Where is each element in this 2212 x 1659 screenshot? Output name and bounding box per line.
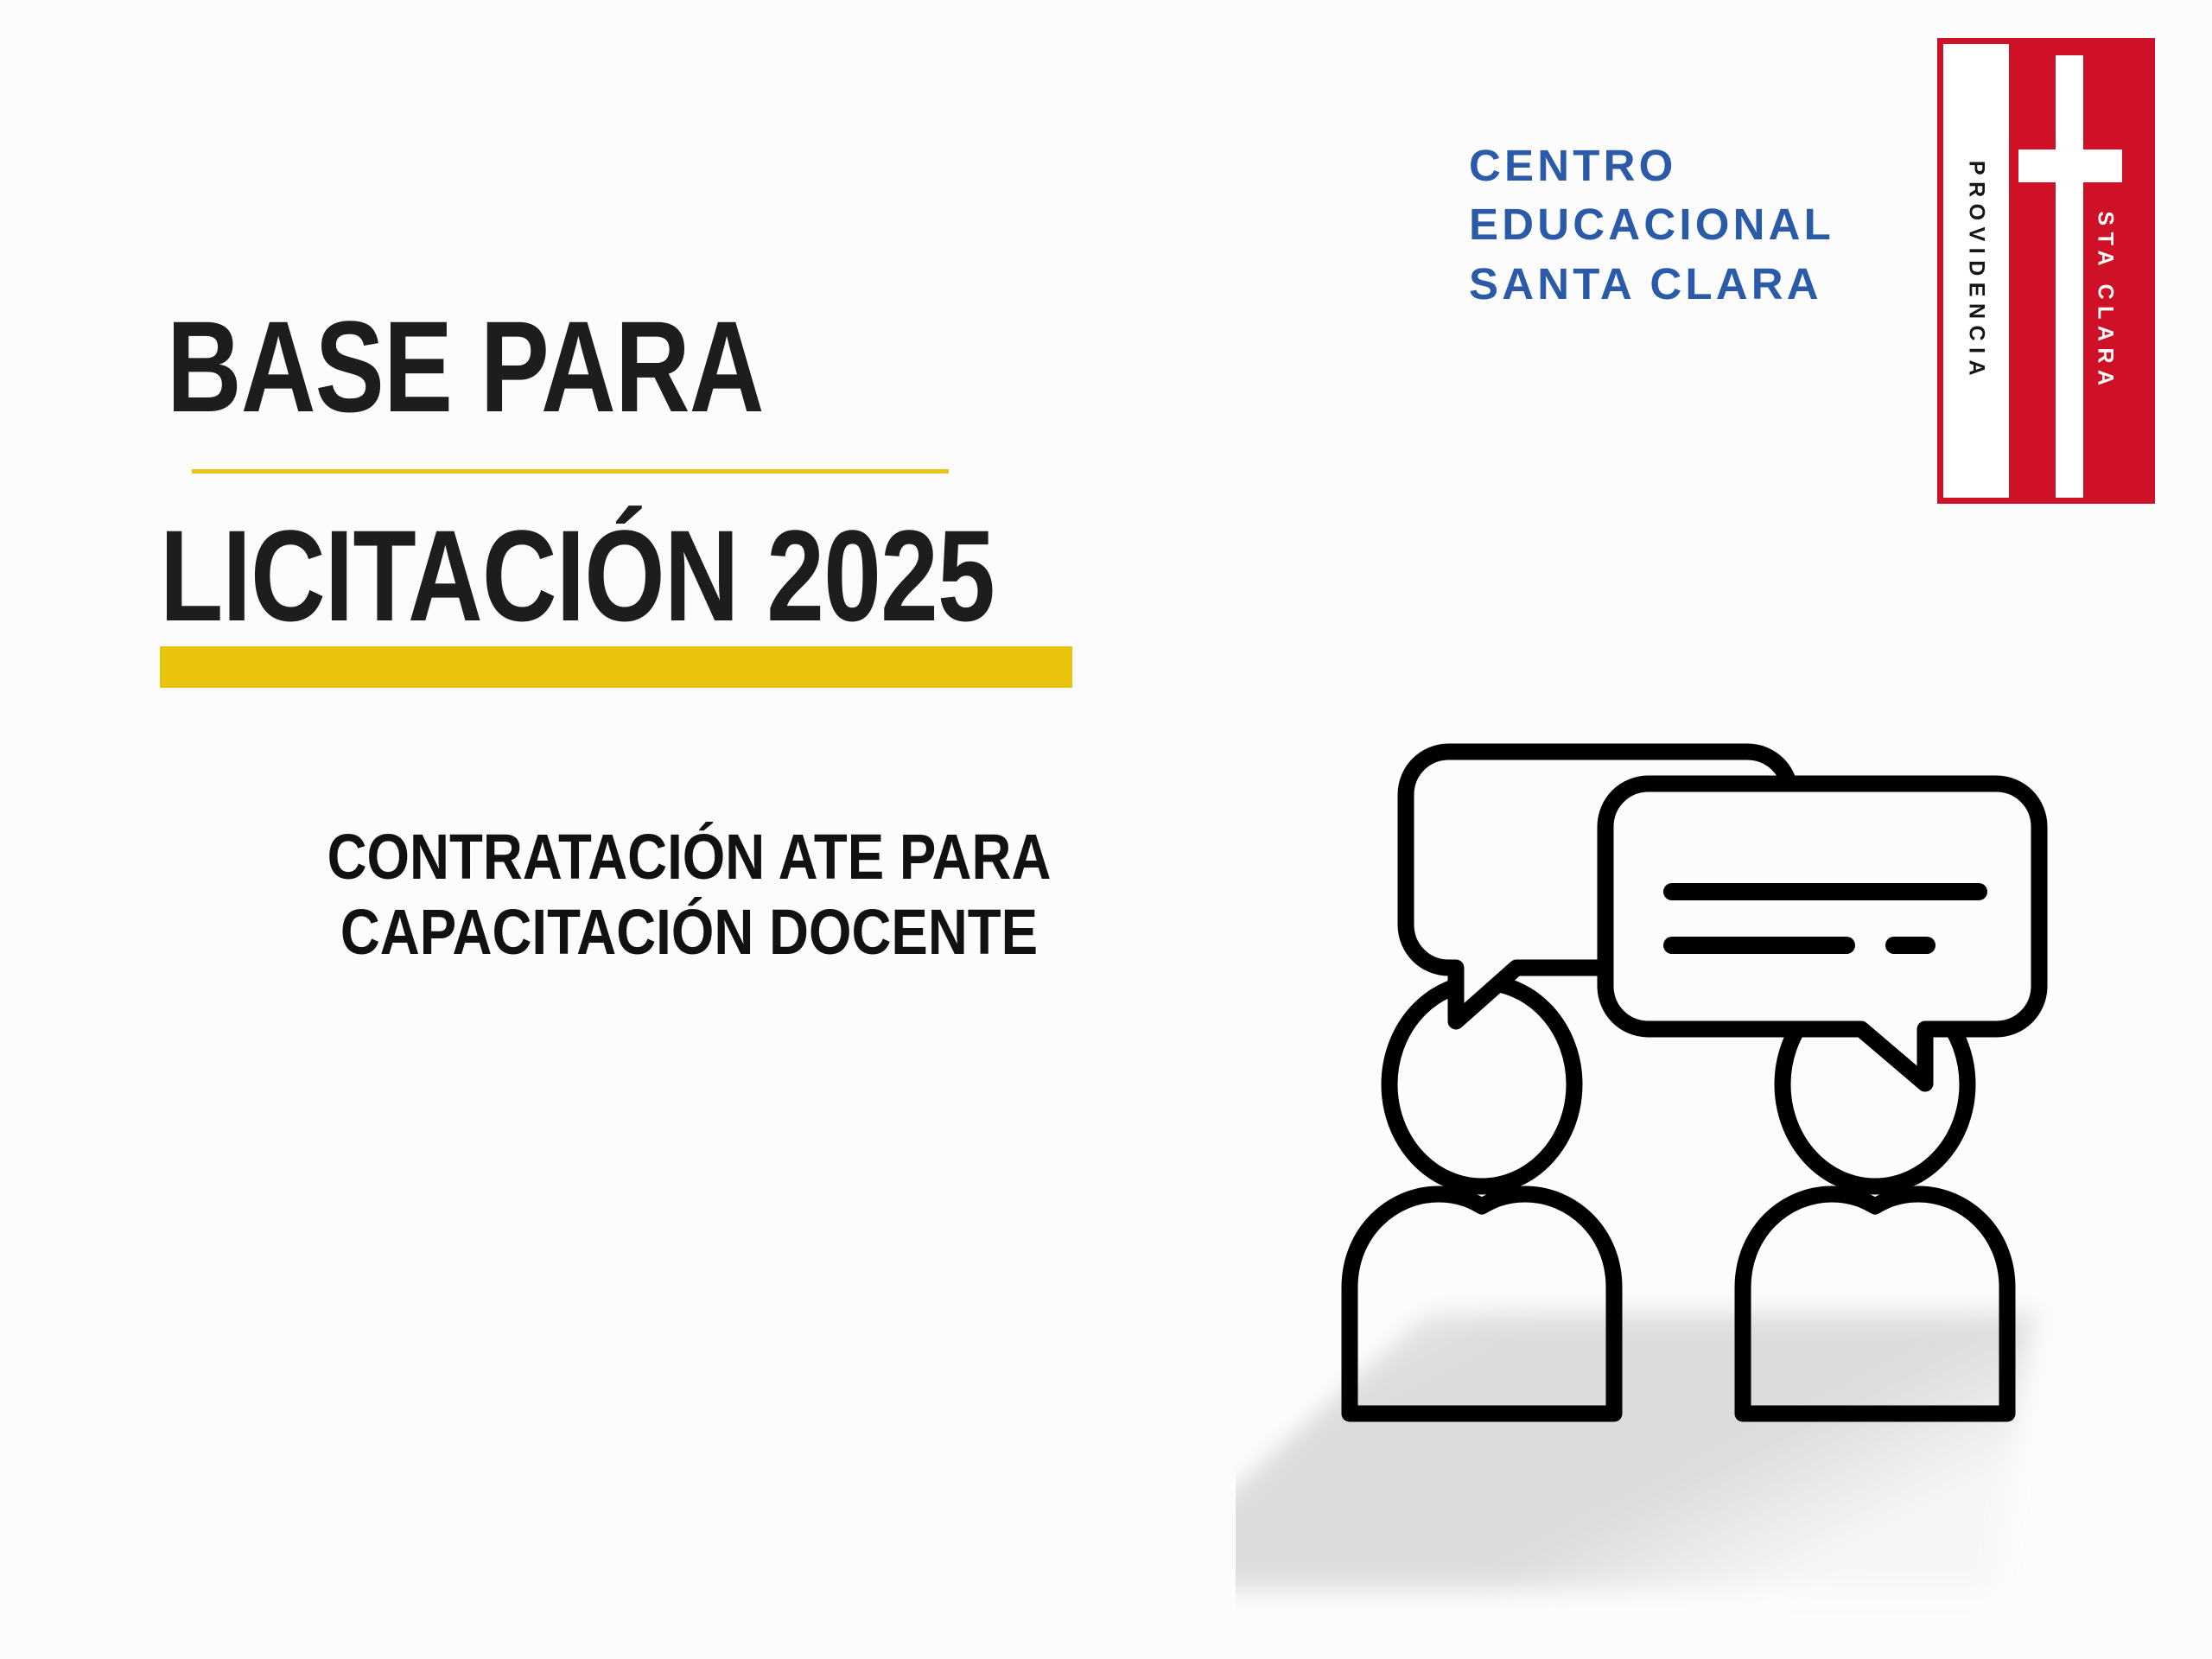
title-line-2: LICITACIÓN 2025 bbox=[160, 516, 1058, 635]
text-speech-bubble-icon bbox=[1605, 784, 2039, 1084]
page-title-second: LICITACIÓN 2025 bbox=[160, 516, 1283, 635]
title-accent-bar bbox=[160, 646, 1072, 688]
institution-name: CENTRO EDUCACIONAL SANTA CLARA bbox=[1469, 137, 1834, 314]
logo-inner: PROVIDENCIA STA CLARA bbox=[1943, 44, 2149, 498]
institution-name-line-3: SANTA CLARA bbox=[1469, 255, 1834, 314]
logo-sta-clara-text: STA CLARA bbox=[2093, 211, 2118, 391]
cross-icon-horizontal bbox=[2018, 149, 2122, 182]
logo-providencia-text: PROVIDENCIA bbox=[1964, 160, 1989, 381]
cross-icon-vertical bbox=[2056, 55, 2083, 498]
slide-canvas: BASE PARA LICITACIÓN 2025 CONTRATACIÓN A… bbox=[0, 0, 2212, 1659]
subtitle: CONTRATACIÓN ATE PARA CAPACITACIÓN DOCEN… bbox=[160, 819, 1218, 970]
institution-name-line-1: CENTRO bbox=[1469, 137, 1834, 195]
school-logo: PROVIDENCIA STA CLARA bbox=[1937, 38, 2155, 504]
subtitle-line-1: CONTRATACIÓN ATE PARA bbox=[234, 819, 1145, 894]
subtitle-line-2: CAPACITACIÓN DOCENTE bbox=[234, 894, 1145, 969]
ground-shadow bbox=[1236, 1313, 2065, 1590]
title-line-1: BASE PARA bbox=[167, 307, 1060, 426]
page-title: BASE PARA bbox=[160, 307, 1283, 426]
title-thin-divider bbox=[192, 469, 949, 474]
institution-name-line-2: EDUCACIONAL bbox=[1469, 195, 1834, 254]
logo-white-strip: PROVIDENCIA bbox=[1943, 44, 2009, 498]
two-people-talking-illustration bbox=[1236, 717, 2186, 1659]
